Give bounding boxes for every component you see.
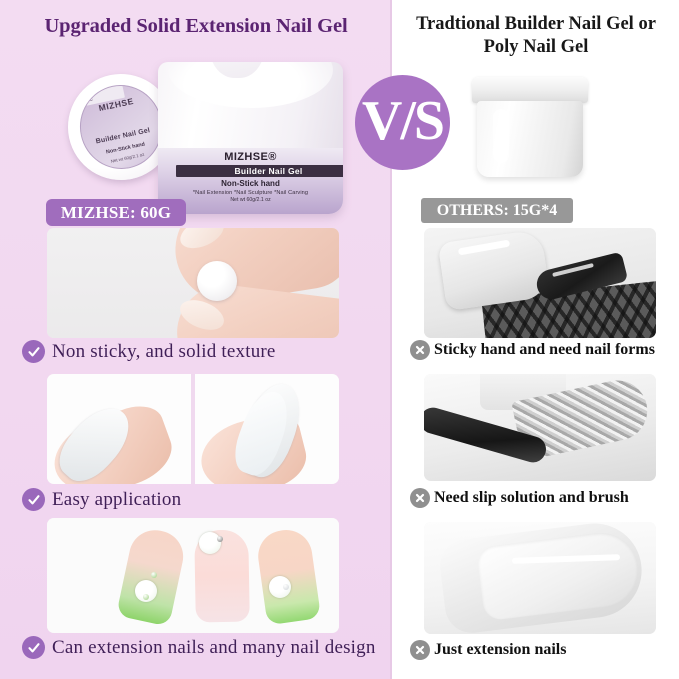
jar-product-text: Builder Nail Gel bbox=[176, 165, 343, 177]
jar-body: MIZHSE® Builder Nail Gel Non-Stick hand … bbox=[158, 62, 343, 214]
x-icon bbox=[410, 340, 430, 360]
application-photo-a bbox=[47, 374, 191, 484]
con-row-1: Sticky hand and need nail forms bbox=[410, 340, 655, 360]
left-photo-nail-art bbox=[47, 518, 339, 633]
pro-row-1: Non sticky, and solid texture bbox=[22, 340, 276, 363]
jar-lid-label: MIZHSE White Builder Nail Gel Non-Stick … bbox=[72, 77, 170, 176]
pro-text-1: Non sticky, and solid texture bbox=[52, 341, 276, 363]
solid-gel-ball bbox=[197, 261, 237, 301]
con-text-1: Sticky hand and need nail forms bbox=[434, 341, 655, 359]
pro-text-2: Easy application bbox=[52, 489, 181, 511]
product-comparison-infographic: Upgraded Solid Extension Nail Gel Tradti… bbox=[0, 0, 679, 679]
others-weight-tag: OTHERS: 15G*4 bbox=[421, 198, 573, 223]
right-heading: Tradtional Builder Nail Gel or Poly Nail… bbox=[400, 13, 672, 59]
gem-2 bbox=[143, 594, 149, 600]
versus-label: V/S bbox=[355, 75, 450, 170]
right-photo-bottle-brush bbox=[424, 228, 656, 338]
x-icon bbox=[410, 488, 430, 508]
others-jar-image bbox=[470, 75, 590, 180]
left-photo-gel-ball bbox=[47, 228, 339, 338]
x-icon bbox=[410, 640, 430, 660]
con-text-2: Need slip solution and brush bbox=[434, 489, 629, 507]
mizhse-weight-tag: MIZHSE: 60G bbox=[46, 199, 186, 226]
pro-text-3: Can extension nails and many nail design bbox=[52, 637, 376, 659]
versus-badge: V/S bbox=[355, 75, 450, 170]
others-jar-lid bbox=[472, 77, 588, 103]
jar-features-text: *Nail Extension *Nail Sculpture *Nail Ca… bbox=[158, 190, 343, 196]
check-icon bbox=[22, 340, 45, 363]
gem-1 bbox=[151, 572, 157, 578]
pro-row-3: Can extension nails and many nail design bbox=[22, 636, 376, 659]
application-photo-b bbox=[195, 374, 339, 484]
jar-net-weight: Net wt 60g/2.1 oz bbox=[158, 197, 343, 203]
jar-brand-text: MIZHSE® bbox=[158, 151, 343, 163]
right-photo-slip-solution bbox=[424, 374, 656, 481]
con-row-3: Just extension nails bbox=[410, 640, 566, 660]
check-icon bbox=[22, 488, 45, 511]
gem-3 bbox=[217, 536, 223, 542]
gem-4 bbox=[283, 584, 289, 590]
others-jar-body bbox=[477, 101, 583, 177]
jar-subtitle-text: Non-Stick hand bbox=[158, 179, 343, 188]
check-icon bbox=[22, 636, 45, 659]
con-row-2: Need slip solution and brush bbox=[410, 488, 629, 508]
pro-row-2: Easy application bbox=[22, 488, 181, 511]
con-text-3: Just extension nails bbox=[434, 641, 566, 659]
right-photo-extension-nail bbox=[424, 522, 656, 634]
others-jar-highlight bbox=[493, 109, 509, 163]
mizhse-jar-image: MIZHSE White Builder Nail Gel Non-Stick … bbox=[30, 58, 360, 218]
left-photo-application bbox=[47, 374, 339, 484]
left-heading: Upgraded Solid Extension Nail Gel bbox=[10, 14, 382, 38]
flower-decoration-2 bbox=[199, 532, 221, 554]
